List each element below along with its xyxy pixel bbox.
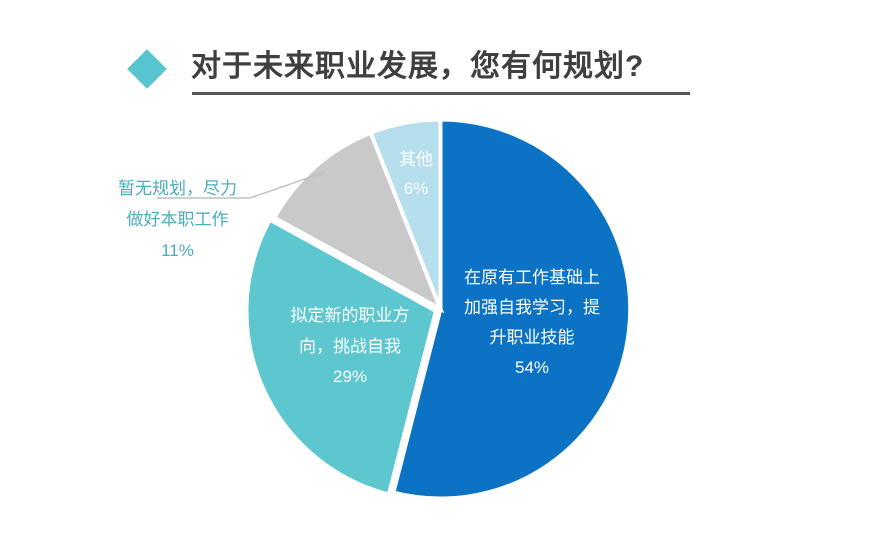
pie-label-1-value: 29%	[270, 362, 430, 392]
pie-label-1-line2: 向，挑战自我	[299, 337, 401, 356]
slide-canvas: 对于未来职业发展，您有何规划? 参考网 在原有工作基础上 加强自我学习，提 升职…	[0, 0, 873, 535]
pie-label-1: 拟定新的职业方 向，挑战自我 29%	[270, 300, 430, 392]
page-title-text: 对于未来职业发展，您有何规划?	[191, 44, 644, 90]
pie-label-1-line1: 拟定新的职业方	[291, 306, 410, 325]
pie-label-2-line2: 做好本职工作	[127, 210, 229, 229]
title-underline	[192, 92, 690, 95]
pie-label-0-line2: 加强自我学习，提	[464, 298, 600, 317]
pie-label-0-line1: 在原有工作基础上	[464, 268, 600, 287]
pie-label-0-value: 54%	[447, 353, 617, 383]
pie-chart: 参考网 在原有工作基础上 加强自我学习，提 升职业技能 54% 拟定新的职业方 …	[0, 100, 873, 535]
page-title: 对于未来职业发展，您有何规划?	[133, 44, 733, 104]
diamond-icon	[127, 49, 167, 89]
pie-label-3-line1: 其他	[399, 150, 433, 169]
pie-label-0: 在原有工作基础上 加强自我学习，提 升职业技能 54%	[447, 263, 617, 383]
pie-label-2: 暂无规划，尽力 做好本职工作 11%	[95, 173, 260, 266]
pie-label-3: 其他 6%	[380, 145, 452, 204]
pie-label-3-value: 6%	[380, 174, 452, 204]
pie-label-0-line3: 升职业技能	[490, 328, 575, 347]
pie-label-2-value: 11%	[161, 241, 194, 260]
pie-label-2-line1: 暂无规划，尽力	[118, 179, 237, 198]
